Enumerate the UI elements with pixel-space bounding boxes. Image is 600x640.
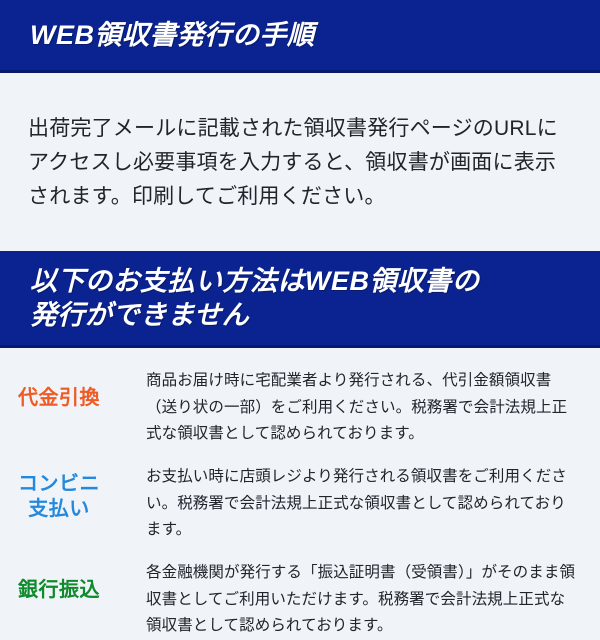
notice-banner: 以下のお支払い方法はWEB領収書の 発行ができません [0, 251, 600, 348]
notice-banner-title: 以下のお支払い方法はWEB領収書の 発行ができません [0, 264, 510, 333]
payment-method-description-konbini: お支払い時に店頭レジより発行される領収書をご利用ください。税務署で会計法規上正式… [118, 458, 578, 544]
page-header-banner: WEB領収書発行の手順 [0, 0, 600, 73]
payment-method-row-konbini: コンビニ 支払い お支払い時に店頭レジより発行される領収書をご利用ください。税務… [0, 458, 600, 544]
payment-method-label-bank: 銀行振込 [0, 554, 118, 603]
payment-method-row-bank: 銀行振込 各金融機関が発行する「振込証明書（受領書）」がそのまま領収書としてご利… [0, 554, 600, 640]
receipt-instructions-page: WEB領収書発行の手順 出荷完了メールに記載された領収書発行ページのURLにアク… [0, 0, 600, 600]
payment-method-description-cod: 商品お届け時に宅配業者より発行される、代引金額領収書（送り状の一部）をご利用くだ… [118, 362, 578, 448]
payment-method-label-cod: 代金引換 [0, 362, 118, 411]
payment-method-label-konbini: コンビニ 支払い [0, 458, 118, 522]
page-title: WEB領収書発行の手順 [0, 18, 345, 53]
intro-paragraph: 出荷完了メールに記載された領収書発行ページのURLにアクセスし必要事項を入力する… [0, 94, 600, 230]
payment-method-description-bank: 各金融機関が発行する「振込証明書（受領書）」がそのまま領収書としてご利用いただけ… [118, 554, 578, 640]
payment-method-row-cod: 代金引換 商品お届け時に宅配業者より発行される、代引金額領収書（送り状の一部）を… [0, 362, 600, 448]
payment-methods-list: 代金引換 商品お届け時に宅配業者より発行される、代引金額領収書（送り状の一部）を… [0, 348, 600, 640]
